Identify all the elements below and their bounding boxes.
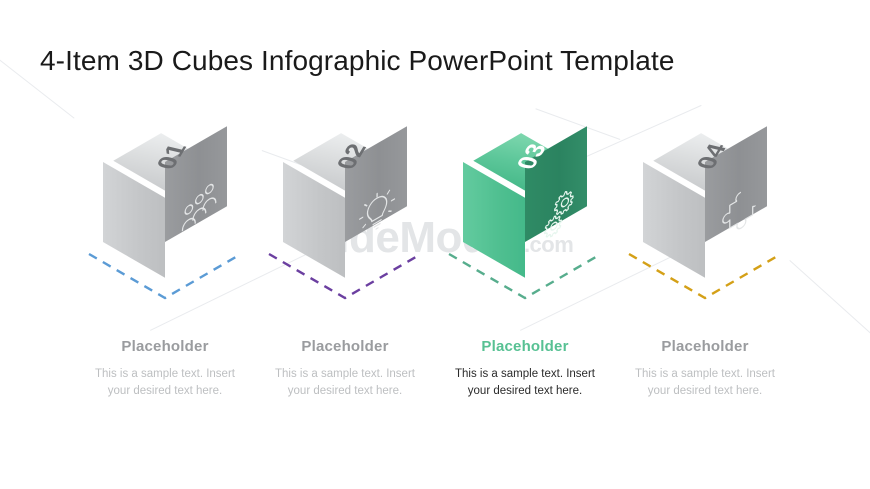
caption-title: Placeholder bbox=[247, 338, 443, 355]
dashed-base-outline bbox=[265, 248, 425, 306]
caption-block-02: PlaceholderThis is a sample text. Insert… bbox=[247, 338, 443, 400]
slide-canvas: SlideModel.com 4-Item 3D Cubes Infograph… bbox=[0, 0, 870, 489]
isometric-cube: 02 bbox=[283, 126, 407, 268]
caption-body: This is a sample text. Insert your desir… bbox=[247, 366, 443, 400]
caption-title: Placeholder bbox=[67, 338, 263, 355]
caption-block-03: PlaceholderThis is a sample text. Insert… bbox=[427, 338, 623, 400]
isometric-cube: 01 bbox=[103, 126, 227, 268]
caption-title: Placeholder bbox=[607, 338, 803, 355]
caption-title: Placeholder bbox=[427, 338, 623, 355]
caption-block-01: PlaceholderThis is a sample text. Insert… bbox=[67, 338, 263, 400]
isometric-cube: 03 bbox=[463, 126, 587, 268]
caption-block-04: PlaceholderThis is a sample text. Insert… bbox=[607, 338, 803, 400]
caption-body: This is a sample text. Insert your desir… bbox=[427, 366, 623, 400]
dashed-base-outline bbox=[445, 248, 605, 306]
dashed-base-outline bbox=[85, 248, 245, 306]
dashed-base-outline bbox=[625, 248, 785, 306]
caption-body: This is a sample text. Insert your desir… bbox=[607, 366, 803, 400]
caption-body: This is a sample text. Insert your desir… bbox=[67, 366, 263, 400]
isometric-cube: 04 bbox=[643, 126, 767, 268]
page-title: 4-Item 3D Cubes Infographic PowerPoint T… bbox=[40, 45, 675, 77]
